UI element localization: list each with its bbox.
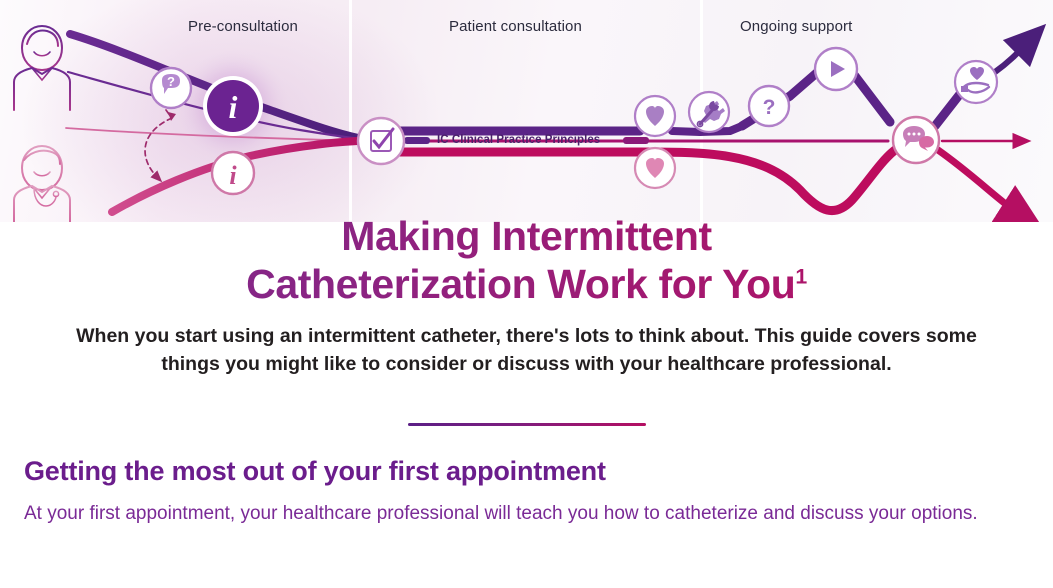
hand-holding-heart-icon[interactable] bbox=[955, 61, 997, 103]
page-title-reference-marker: 1 bbox=[795, 264, 806, 288]
journey-banner: ? i i bbox=[0, 0, 1053, 222]
svg-text:i: i bbox=[229, 161, 237, 190]
information-outline-icon[interactable]: i bbox=[212, 152, 254, 194]
page-title-line-1: Making Intermittent bbox=[341, 213, 712, 259]
heart-icon[interactable] bbox=[635, 148, 675, 188]
tools-wrench-gear-icon[interactable] bbox=[689, 92, 729, 132]
heart-icon[interactable] bbox=[635, 96, 675, 136]
svg-text:i: i bbox=[229, 89, 238, 125]
play-video-icon[interactable] bbox=[815, 48, 857, 90]
intro-paragraph: When you start using an intermittent cat… bbox=[52, 322, 1002, 379]
clinician-avatar-icon bbox=[14, 146, 70, 222]
patient-avatar-icon bbox=[14, 26, 70, 110]
question-mark-icon[interactable]: ? bbox=[749, 86, 789, 126]
ic-clinical-practice-principles-label: IC Clinical Practice Principles bbox=[437, 134, 600, 146]
information-filled-icon[interactable]: i bbox=[203, 76, 263, 136]
page-title: Making Intermittent Catheterization Work… bbox=[0, 213, 1053, 309]
stage-label-pre-consultation: Pre-consultation bbox=[188, 18, 298, 35]
section-heading: Getting the most out of your first appoi… bbox=[24, 455, 1024, 487]
first-appointment-section: Getting the most out of your first appoi… bbox=[24, 455, 1024, 528]
chat-bubbles-icon[interactable] bbox=[893, 117, 939, 163]
svg-text:?: ? bbox=[763, 96, 776, 119]
section-divider bbox=[408, 423, 646, 426]
page-title-line-2: Catheterization Work for You bbox=[246, 261, 795, 307]
svg-text:?: ? bbox=[167, 74, 175, 89]
section-body: At your first appointment, your healthca… bbox=[24, 501, 984, 528]
checklist-icon[interactable] bbox=[358, 118, 404, 164]
question-speech-bubble-icon[interactable]: ? bbox=[151, 68, 191, 108]
stage-label-patient-consultation: Patient consultation bbox=[449, 18, 582, 35]
hero-title-block: Making Intermittent Catheterization Work… bbox=[0, 213, 1053, 309]
stage-label-ongoing-support: Ongoing support bbox=[740, 18, 852, 35]
stage-divider bbox=[349, 0, 352, 222]
